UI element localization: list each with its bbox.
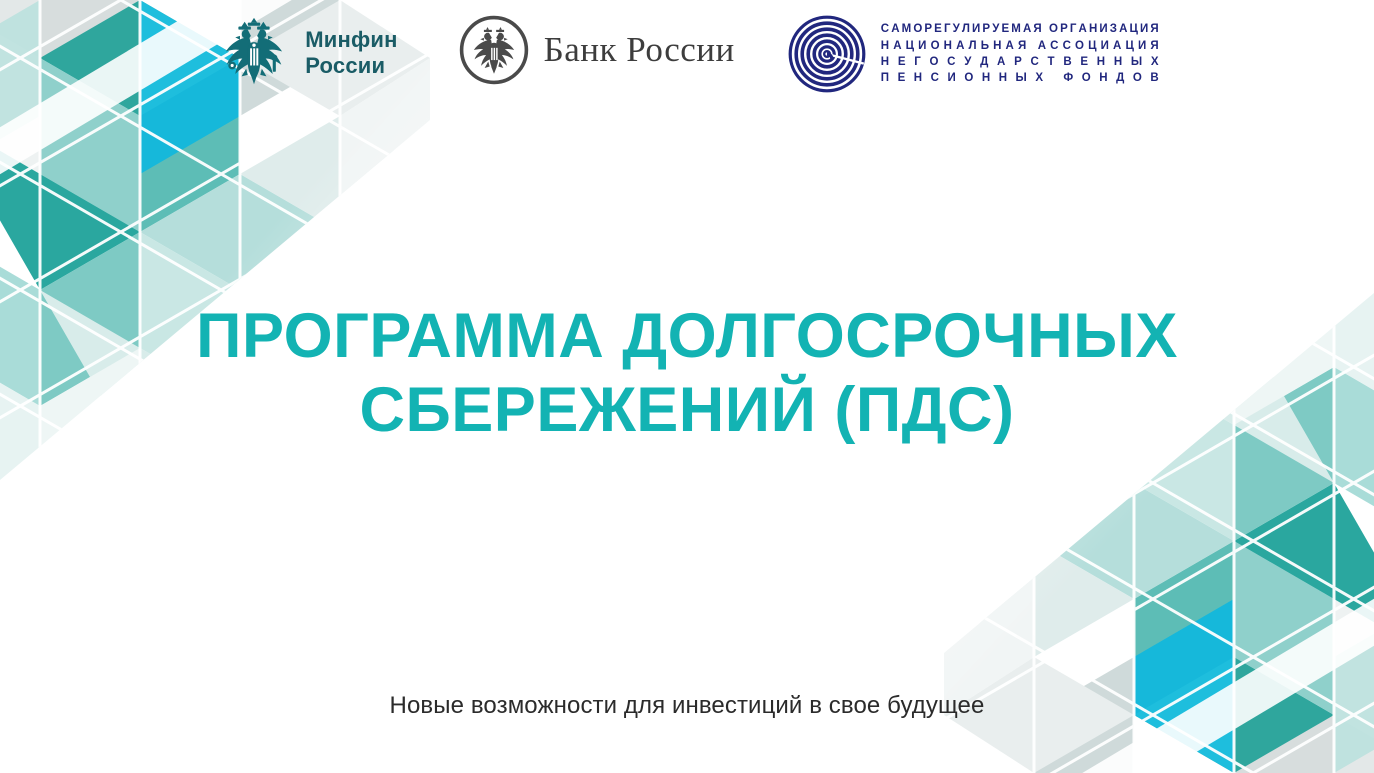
bank-of-russia-emblem-icon — [458, 14, 530, 86]
subtitle-block: Новые возможности для инвестиций в свое … — [0, 692, 1374, 720]
presentation-slide: МинфинРоссии — [0, 0, 1374, 773]
page-title-line-2: СБЕРЕЖЕНИЙ (ПДС) — [360, 375, 1015, 445]
logo-napf-wordmark: САМОРЕГУЛИРУЕМАЯ ОРГАНИЗАЦИЯ НАЦИОНАЛЬНА… — [881, 21, 1159, 86]
napf-spiral-icon — [787, 14, 867, 94]
logo-minfin-line-2: России — [305, 53, 385, 78]
logo-row: МинфинРоссии — [0, 0, 1374, 120]
logo-minfin-line-1: Минфин — [305, 27, 397, 52]
russian-double-headed-eagle-icon — [215, 14, 293, 92]
logo-minfin-rossii: МинфинРоссии — [215, 14, 397, 92]
page-subtitle: Новые возможности для инвестиций в свое … — [0, 692, 1374, 720]
title-block: ПРОГРАММА ДОЛГОСРОЧНЫХ СБЕРЕЖЕНИЙ (ПДС) — [0, 300, 1374, 447]
logo-napf: САМОРЕГУЛИРУЕМАЯ ОРГАНИЗАЦИЯ НАЦИОНАЛЬНА… — [787, 14, 1159, 94]
logo-bank-of-russia: Банк России — [458, 14, 735, 86]
page-title: ПРОГРАММА ДОЛГОСРОЧНЫХ СБЕРЕЖЕНИЙ (ПДС) — [0, 300, 1374, 447]
logo-napf-line-3: НЕГОСУДАРСТВЕННЫХ — [881, 54, 1159, 70]
logo-minfin-wordmark: МинфинРоссии — [305, 27, 397, 79]
logo-bank-of-russia-wordmark: Банк России — [544, 30, 735, 70]
page-title-line-1: ПРОГРАММА ДОЛГОСРОЧНЫХ — [196, 301, 1178, 371]
logo-napf-line-4: ПЕНСИОННЫХ ФОНДОВ — [881, 70, 1159, 86]
logo-napf-line-1: САМОРЕГУЛИРУЕМАЯ ОРГАНИЗАЦИЯ — [881, 21, 1159, 37]
logo-napf-line-2: НАЦИОНАЛЬНАЯ АССОЦИАЦИЯ — [881, 38, 1159, 54]
